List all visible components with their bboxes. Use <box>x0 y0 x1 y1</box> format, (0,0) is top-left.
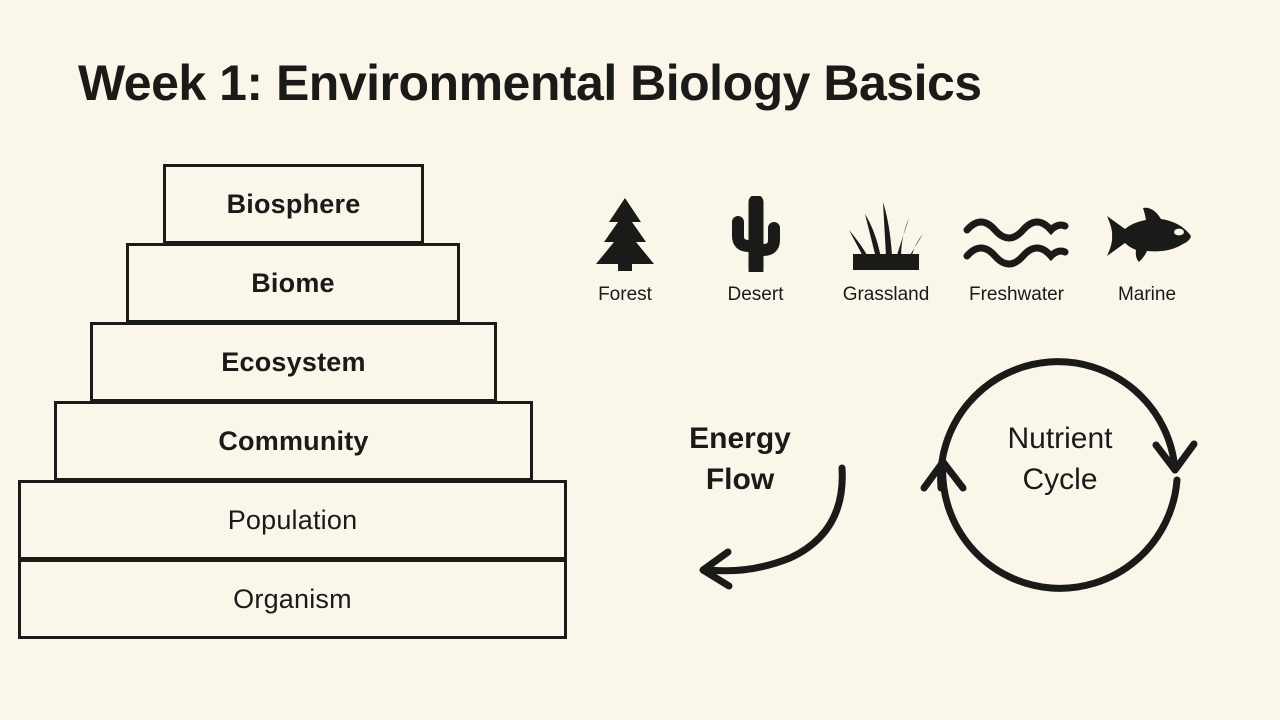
pyramid-tier-community: Community <box>54 401 533 481</box>
biome-item-freshwater: Freshwater <box>958 196 1076 306</box>
pyramid-tier-label: Community <box>218 426 368 457</box>
pine-tree-icon <box>588 196 662 272</box>
pyramid-tier-label: Organism <box>233 584 352 615</box>
curved-arrow-icon <box>640 400 910 610</box>
pyramid-tier-label: Population <box>228 505 358 536</box>
pyramid-tier-label: Ecosystem <box>221 347 365 378</box>
pyramid-tier-organism: Organism <box>18 559 567 639</box>
nutrient-cycle-group: Nutrient Cycle <box>915 340 1205 600</box>
pyramid-tier-label: Biosphere <box>227 189 361 220</box>
biome-icon-row: Forest Desert <box>566 176 1206 306</box>
page-title: Week 1: Environmental Biology Basics <box>78 54 982 112</box>
pyramid-tier-biosphere: Biosphere <box>163 164 424 244</box>
slide-canvas: Week 1: Environmental Biology Basics Bio… <box>0 0 1280 720</box>
biome-item-desert: Desert <box>697 196 815 306</box>
pyramid-tier-biome: Biome <box>126 243 460 323</box>
pyramid-tier-population: Population <box>18 480 567 560</box>
biome-item-forest: Forest <box>566 196 684 306</box>
fish-icon <box>1095 196 1199 272</box>
nutrient-cycle-line2: Cycle <box>915 459 1205 500</box>
ecological-hierarchy-pyramid: Biosphere Biome Ecosystem Community Popu… <box>0 155 600 655</box>
nutrient-cycle-label: Nutrient Cycle <box>915 418 1205 500</box>
energy-flow-group: Energy Flow <box>640 400 910 610</box>
biome-label: Forest <box>598 284 652 306</box>
cactus-icon <box>725 196 787 272</box>
biome-label: Grassland <box>843 284 930 306</box>
water-waves-icon <box>961 196 1073 272</box>
biome-label: Marine <box>1118 284 1176 306</box>
biome-item-grassland: Grassland <box>827 196 945 306</box>
grass-icon <box>843 196 929 272</box>
biome-label: Desert <box>728 284 784 306</box>
biome-label: Freshwater <box>969 284 1064 306</box>
pyramid-tier-label: Biome <box>251 268 335 299</box>
pyramid-tier-ecosystem: Ecosystem <box>90 322 497 402</box>
biome-item-marine: Marine <box>1088 196 1206 306</box>
nutrient-cycle-line1: Nutrient <box>1007 422 1112 455</box>
